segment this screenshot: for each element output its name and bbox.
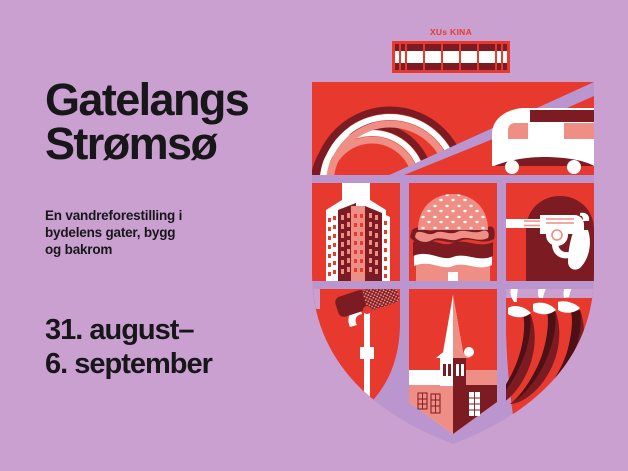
sign-cell [443, 44, 459, 70]
subtitle: En vandreforestilling i bydelens gater, … [45, 207, 245, 258]
sign-cell [503, 44, 507, 70]
subtitle-line-2: bydelens gater, bygg [45, 224, 245, 241]
sign-cell [425, 44, 441, 70]
title-line-2: Strømsø [45, 122, 305, 166]
event-dates: 31. august– 6. september [45, 313, 285, 381]
page-title: Gatelangs Strømsø [45, 78, 305, 166]
revolver-illustration [498, 183, 594, 281]
sign-label: XUs KINA [392, 27, 510, 37]
burger-illustration [409, 183, 497, 293]
subtitle-line-3: og bakrom [45, 241, 245, 258]
sign-cell [479, 44, 495, 70]
text-column: Gatelangs Strømsø En vandreforestilling … [45, 0, 295, 471]
sign-cell [401, 44, 405, 70]
sign-cell [395, 44, 399, 70]
sign-cell [407, 44, 423, 70]
subtitle-line-1: En vandreforestilling i [45, 207, 245, 224]
sign-panel [392, 41, 510, 73]
poster-canvas: Gatelangs Strømsø En vandreforestilling … [0, 0, 628, 471]
microphone-illustration [312, 280, 401, 434]
cinema-marquee-sign: XUs KINA [392, 27, 510, 77]
date-line-2: 6. september [45, 347, 285, 381]
sign-cell [497, 44, 501, 70]
high-rise-building-illustration [312, 183, 400, 281]
date-line-1: 31. august– [45, 313, 285, 347]
shield-crest [312, 82, 594, 444]
sign-cell [461, 44, 477, 70]
